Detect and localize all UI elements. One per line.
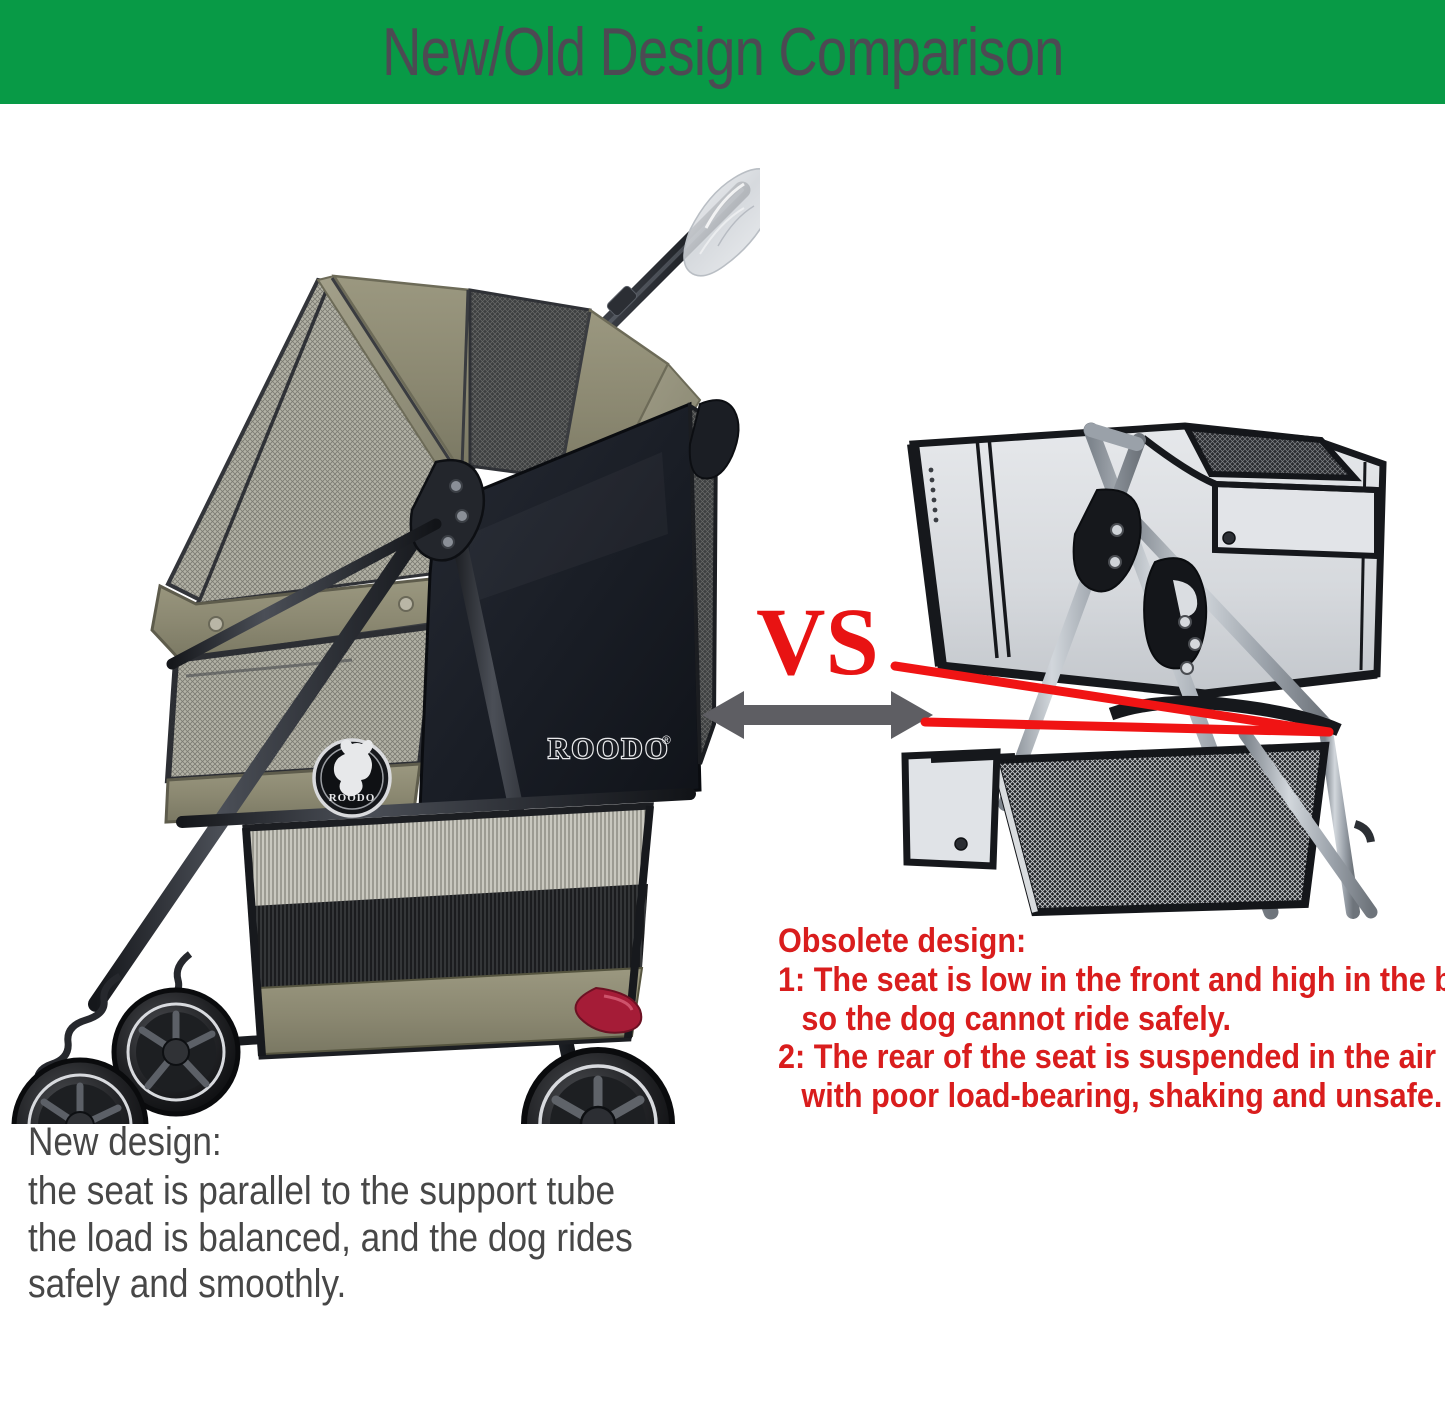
brand-badge: ROODO (314, 740, 390, 816)
front-wheel-assembly (14, 954, 238, 1124)
obsolete-design-stroller-image (885, 404, 1445, 924)
brand-registered-mark: ® (662, 733, 671, 747)
obsolete-design-caption: Obsolete design: 1: The seat is low in t… (778, 922, 1445, 1116)
obsolete-caption-line-4: with poor load-bearing, shaking and unsa… (778, 1077, 1378, 1116)
new-design-caption-line-3: safely and smoothly. (28, 1261, 679, 1308)
obsolete-stroller-illustration (885, 404, 1445, 924)
comparison-stage: ROODO ® (0, 104, 1445, 1402)
handle-plastic-wrap (684, 169, 760, 276)
obsolete-caption-line-1: 1: The seat is low in the front and high… (778, 961, 1378, 1000)
new-design-caption-heading: New design: (28, 1119, 679, 1166)
new-stroller-illustration: ROODO ® (0, 104, 760, 1124)
new-design-caption: New design: the seat is parallel to the … (28, 1119, 768, 1308)
obsolete-caption-line-2: so the dog cannot ride safely. (778, 1000, 1378, 1039)
new-design-caption-line-2: the load is balanced, and the dog rides (28, 1215, 679, 1262)
obsolete-seat-body (913, 426, 1383, 694)
header-banner: New/Old Design Comparison (0, 0, 1445, 104)
page-title: New/Old Design Comparison (382, 13, 1063, 91)
obsolete-caption-line-3: 2: The rear of the seat is suspended in … (778, 1038, 1378, 1077)
side-pocket (1215, 484, 1377, 556)
latch-hook (1144, 558, 1206, 674)
rear-wheel (524, 1050, 672, 1124)
obsolete-caption-heading: Obsolete design: (778, 922, 1378, 961)
new-design-caption-line-1: the seat is parallel to the support tube (28, 1168, 679, 1215)
brand-wordmark: ROODO (548, 733, 670, 765)
badge-wordmark: ROODO (329, 792, 376, 804)
new-design-stroller-image: ROODO ® (0, 104, 760, 1124)
